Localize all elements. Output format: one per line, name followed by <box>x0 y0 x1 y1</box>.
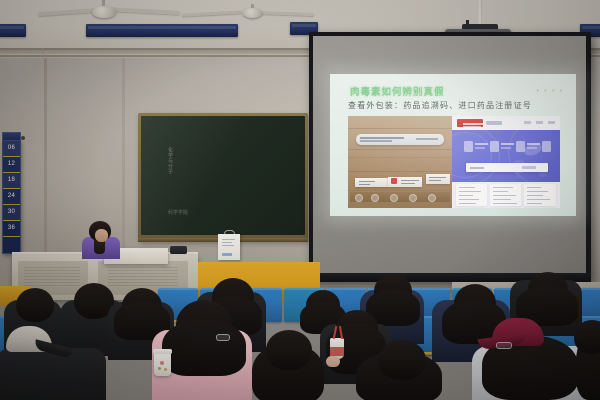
audience-head <box>378 340 426 380</box>
audience-hair <box>162 320 246 376</box>
wall-pillar-edge <box>44 58 47 258</box>
wall-pillar-edge-2 <box>122 58 125 258</box>
photo-tool-icon <box>390 194 398 202</box>
paper-text-line <box>222 245 234 246</box>
lecture-hall-photo: 06 12 18 24 30 36 化学与分子 科学学院 肉毒素如何辨别真假 •… <box>0 0 600 400</box>
audience-head <box>574 320 600 354</box>
cup-graphic <box>164 368 167 371</box>
paper-blue-mark <box>222 253 232 256</box>
fan-hub <box>243 8 262 18</box>
hanging-paper-sheet <box>218 234 240 260</box>
cup-lid <box>153 349 172 354</box>
nmpa-website-screenshot <box>452 116 560 208</box>
website-brand-text <box>486 121 502 125</box>
website-card <box>524 184 556 206</box>
hand <box>326 356 340 367</box>
blackboard-gloss <box>141 116 305 235</box>
blackboard-frame: 化学与分子 科学学院 <box>138 113 308 240</box>
row-number-cell: 30 <box>3 205 20 221</box>
photo-tool-icon <box>409 194 417 202</box>
website-hero-banner <box>452 130 560 182</box>
photo-toolbar-strip <box>350 192 450 202</box>
glasses-icon <box>496 342 512 349</box>
wall-panel-knob <box>21 136 25 140</box>
website-card <box>456 184 487 206</box>
chalk-writing-horizontal: 科学学院 <box>168 209 188 216</box>
row-number-cell: 24 <box>3 189 20 205</box>
row-number-cell: 06 <box>3 141 20 157</box>
website-card <box>490 184 521 206</box>
projection-screen: 肉毒素如何辨别真假 • • • • 查看外包装：药品追溯码、进口药品注册证号 <box>309 32 591 282</box>
audience-head <box>266 330 312 370</box>
fan-hub <box>92 6 116 18</box>
chalk-writing-vertical: 化学与分子 <box>166 147 173 175</box>
search-button[interactable] <box>522 166 536 169</box>
slide-title: 肉毒素如何辨别真假 <box>350 84 445 98</box>
website-content-area <box>452 182 560 208</box>
hero-tile-icon <box>464 141 473 152</box>
cup-graphic <box>160 361 164 365</box>
website-search-input[interactable] <box>466 163 548 172</box>
package-leaflet <box>356 134 444 145</box>
paper-text-line <box>222 239 235 240</box>
row-number-cell: 18 <box>3 173 20 189</box>
row-number-cell: 12 <box>3 157 20 173</box>
paper-text-line <box>222 242 232 243</box>
photo-tool-icon <box>428 194 436 202</box>
slide-decoration-dots: • • • • <box>537 89 564 95</box>
search-placeholder <box>470 167 484 169</box>
drug-package-photo <box>348 116 452 208</box>
laptop-device <box>170 246 187 254</box>
presenter-face <box>95 229 108 242</box>
audience-head <box>16 288 54 322</box>
presentation-slide: 肉毒素如何辨别真假 • • • • 查看外包装：药品追溯码、进口药品注册证号 <box>330 74 576 216</box>
photo-tool-icon <box>355 194 363 202</box>
cup-graphic <box>158 367 161 370</box>
package-red-logo <box>391 178 397 184</box>
screen-surface: 肉毒素如何辨别真假 • • • • 查看外包装：药品追溯码、进口药品注册证号 <box>313 36 586 276</box>
medicine-box-3 <box>426 174 450 184</box>
hero-tile-icon <box>516 141 525 152</box>
hero-tile-icon <box>542 141 551 152</box>
ceiling-light-1 <box>0 24 26 37</box>
row-number-cell: 36 <box>3 221 20 237</box>
seat-row-number-panel: 06 12 18 24 30 36 <box>2 140 21 254</box>
audience-body <box>0 348 106 400</box>
hero-tile-icon <box>490 141 499 152</box>
photo-tool-icon <box>371 194 379 202</box>
ceiling-light-2 <box>86 24 238 37</box>
paper-cup <box>154 352 171 376</box>
slide-subtitle: 查看外包装：药品追溯码、进口药品注册证号 <box>348 100 532 111</box>
cup-band <box>330 347 344 356</box>
medicine-box-1 <box>355 178 388 187</box>
glasses-icon <box>216 334 230 341</box>
